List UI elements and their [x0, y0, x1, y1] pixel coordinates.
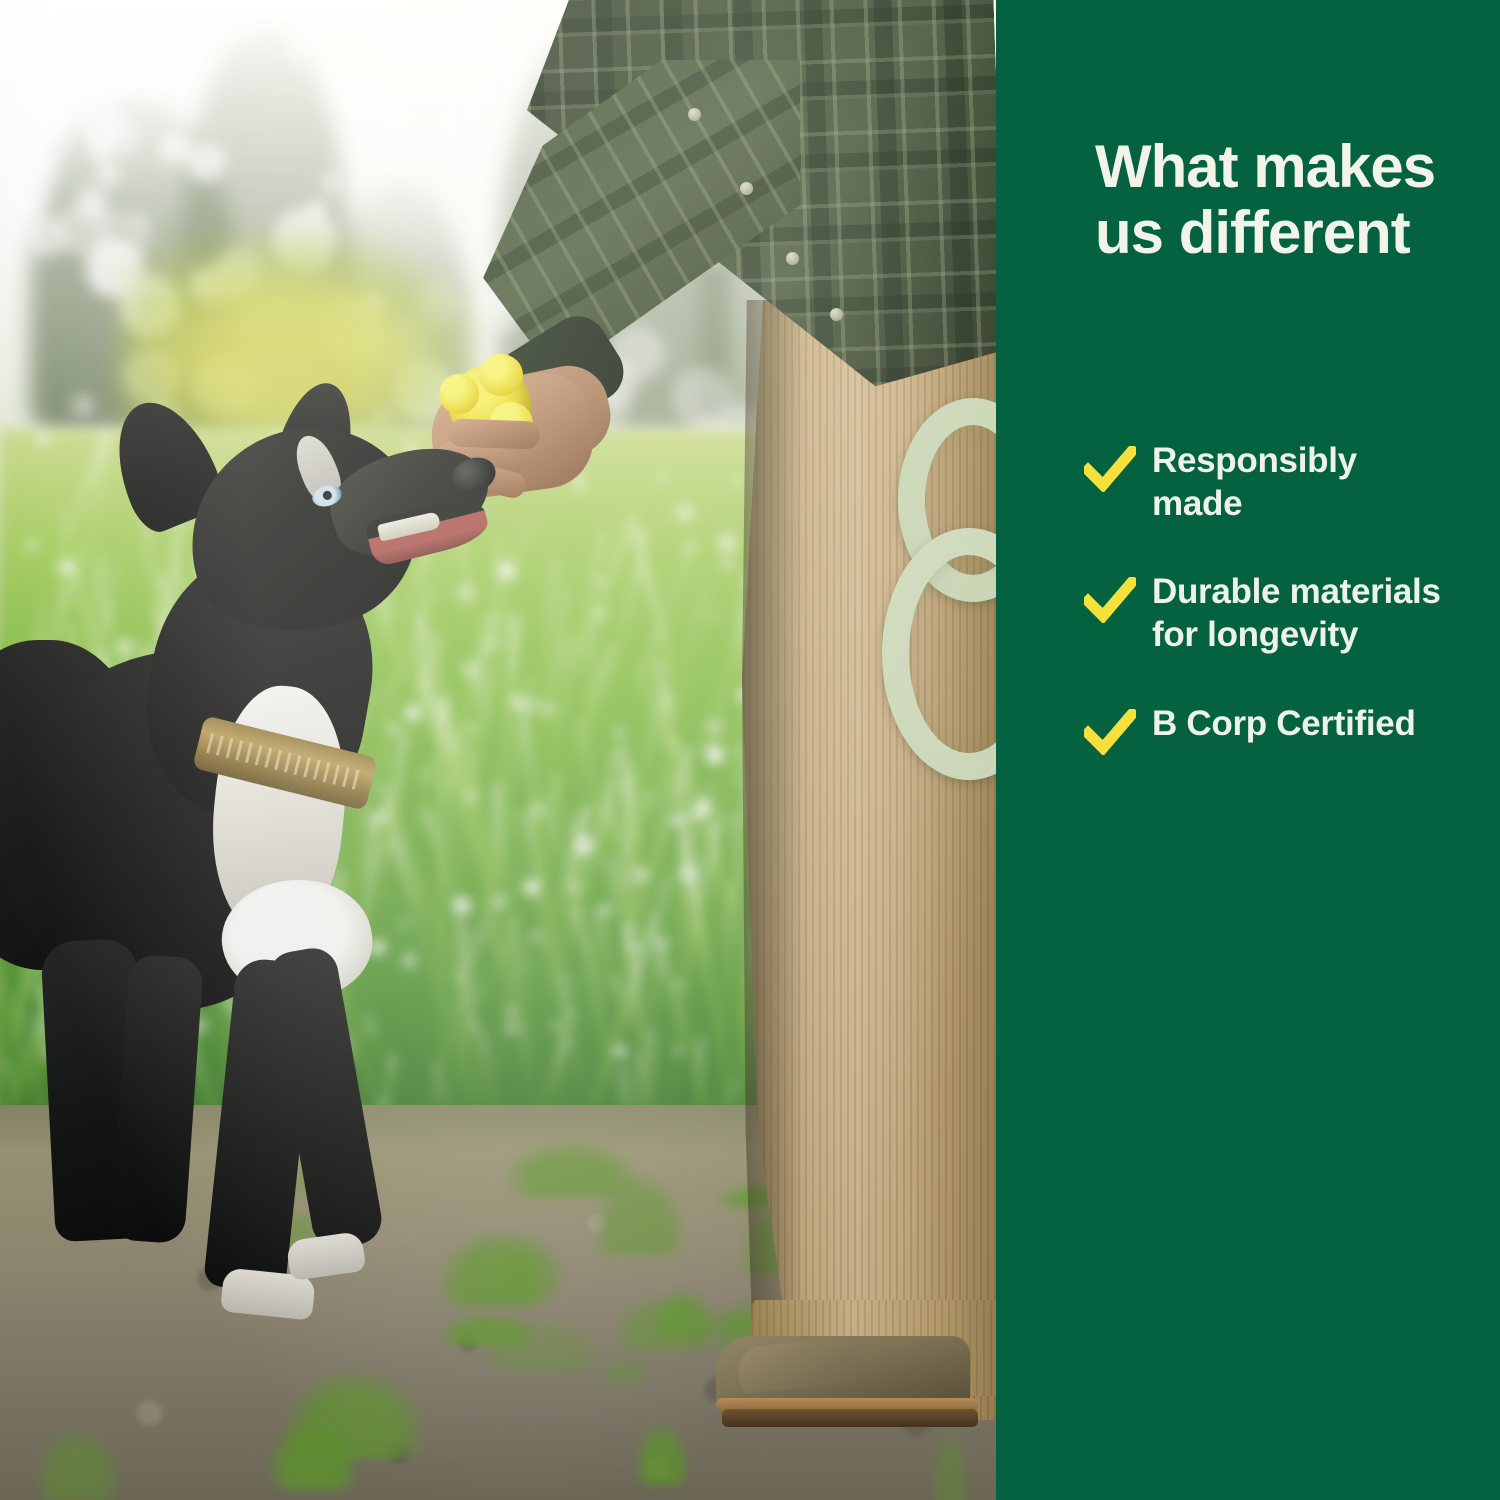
list-item-label: Durable materials for longevity: [1152, 571, 1452, 656]
check-icon: [1084, 709, 1136, 755]
product-lifestyle-photo: [0, 0, 996, 1500]
dog: [0, 400, 560, 1460]
info-panel: What makes us different Responsibly made…: [996, 0, 1500, 1500]
shirt-button: [830, 308, 843, 321]
page-title: What makes us different: [1095, 134, 1495, 266]
toy-lobe: [479, 354, 523, 396]
ad-creative: What makes us different Responsibly made…: [0, 0, 1500, 1500]
suede-boot: [716, 1336, 978, 1432]
check-icon: [1084, 577, 1136, 623]
green-tug-toy: [880, 398, 996, 738]
list-item-label: Responsibly made: [1152, 440, 1452, 525]
list-item: Responsibly made: [1084, 440, 1484, 525]
check-icon: [1084, 446, 1136, 492]
list-item: Durable materials for longevity: [1084, 571, 1484, 656]
dog-paw: [286, 1231, 367, 1281]
shirt-button: [740, 182, 753, 195]
shirt-button: [786, 252, 799, 265]
shirt-button: [688, 108, 701, 121]
boot-sole: [722, 1409, 978, 1427]
list-item-label: B Corp Certified: [1152, 703, 1416, 746]
feature-list: Responsibly made Durable materials for l…: [1084, 440, 1484, 801]
list-item: B Corp Certified: [1084, 703, 1484, 755]
pants-shadow: [742, 300, 802, 1420]
